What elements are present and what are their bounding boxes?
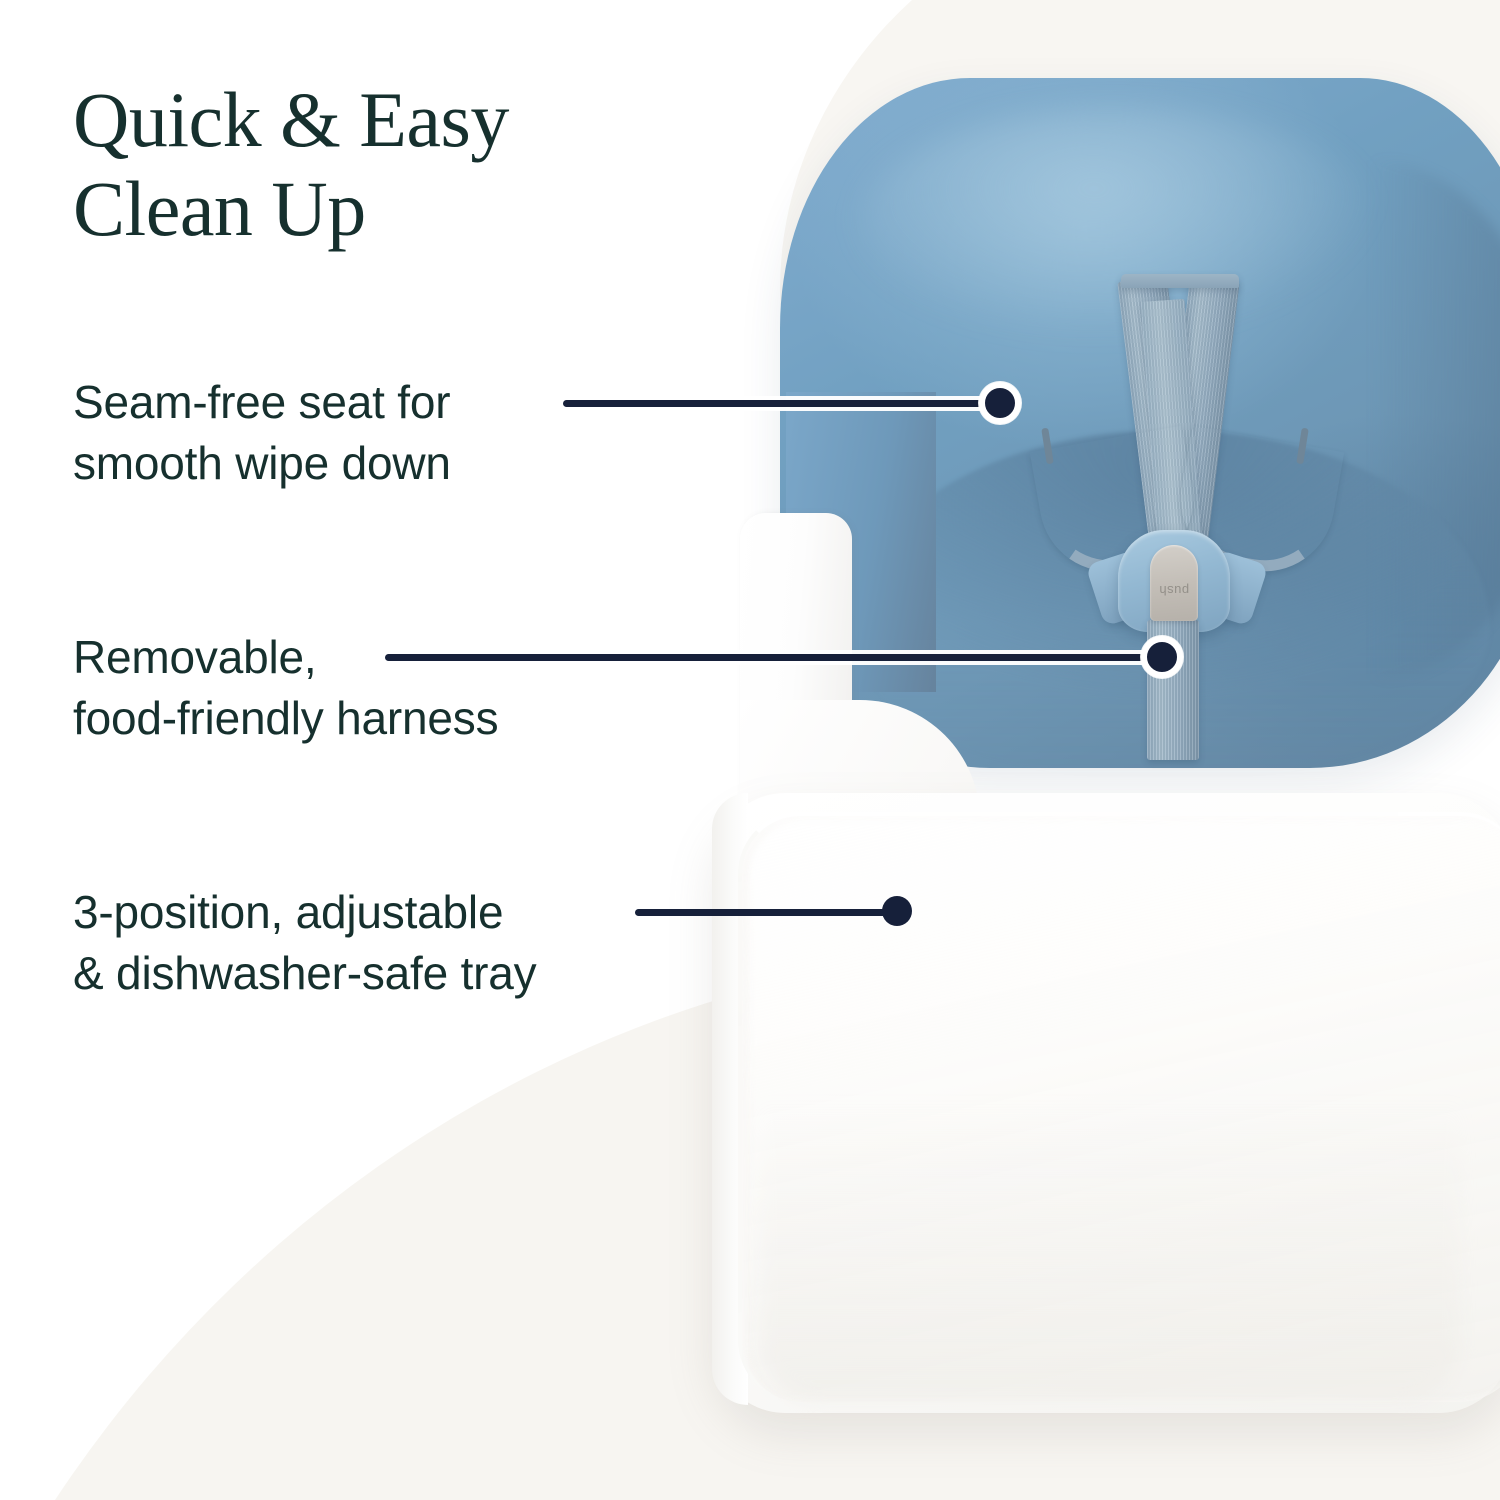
callout-label-seat: Seam-free seat for smooth wipe down [73,372,633,493]
callout-leader-tray [635,909,899,916]
callout-leader-harness [385,654,1165,661]
page-title: Quick & Easy Clean Up [73,76,713,254]
callout-label-tray: 3-position, adjustable & dishwasher-safe… [73,882,713,1003]
harness-strap-bridge [1121,274,1239,288]
buckle-label: push [1150,583,1198,598]
callout-dot-seat [979,382,1021,424]
callout-dot-tray [882,896,912,926]
callout-label-harness: Removable, food-friendly harness [73,627,673,748]
tray-bottom-shading [760,1100,1460,1400]
infographic-canvas: push Quick & Easy Clean Up Seam-free sea… [0,0,1500,1500]
callout-leader-seat [563,400,1001,407]
callout-dot-harness [1141,636,1183,678]
